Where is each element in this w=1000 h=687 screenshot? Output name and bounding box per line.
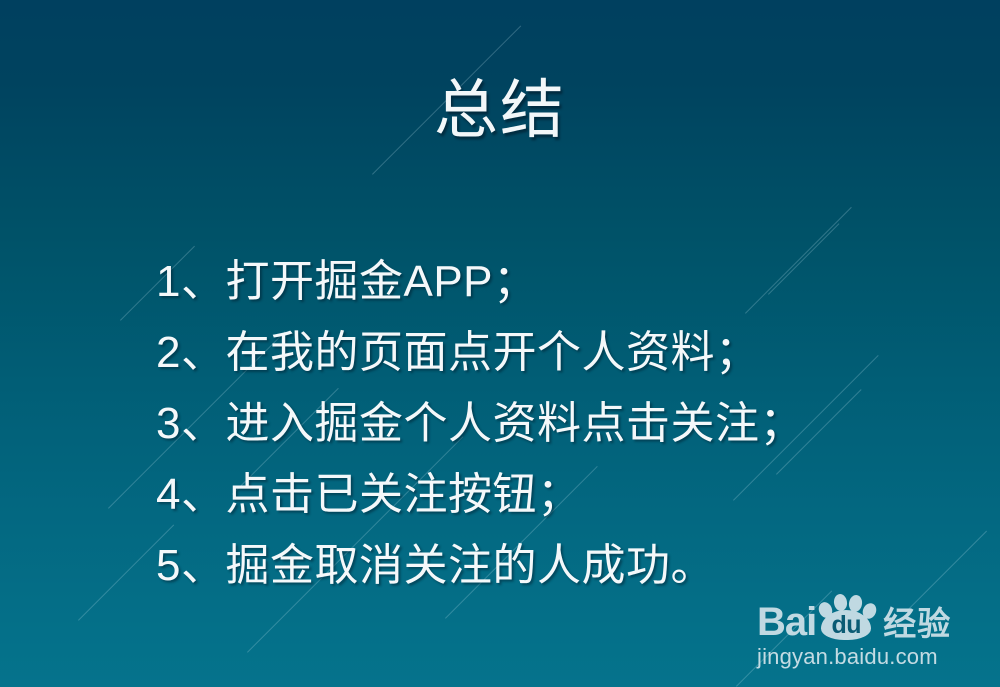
summary-step-item: 4、点击已关注按钮；	[156, 459, 976, 530]
summary-step-list: 1、打开掘金APP； 2、在我的页面点开个人资料； 3、进入掘金个人资料点击关注…	[156, 246, 976, 601]
baidu-url-label: jingyan.baidu.com	[757, 644, 993, 670]
slide-title: 总结	[0, 78, 1000, 142]
baidu-jingyan-watermark: Bai du 经验 jingyan.baidu.com	[757, 598, 993, 670]
summary-step-item: 1、打开掘金APP；	[156, 246, 976, 317]
summary-step-item: 5、掘金取消关注的人成功。	[156, 530, 976, 601]
baidu-wordmark-cn: 经验	[883, 606, 951, 642]
baidu-wordmark-latin: Bai	[757, 602, 816, 642]
summary-step-item: 3、进入掘金个人资料点击关注；	[156, 388, 976, 459]
baidu-paw-icon: du	[817, 594, 877, 642]
baidu-paw-label: du	[821, 610, 871, 640]
presentation-slide: 总结 1、打开掘金APP； 2、在我的页面点开个人资料； 3、进入掘金个人资料点…	[0, 0, 1000, 687]
summary-step-item: 2、在我的页面点开个人资料；	[156, 317, 976, 388]
baidu-logo: Bai du 经验	[757, 598, 993, 642]
